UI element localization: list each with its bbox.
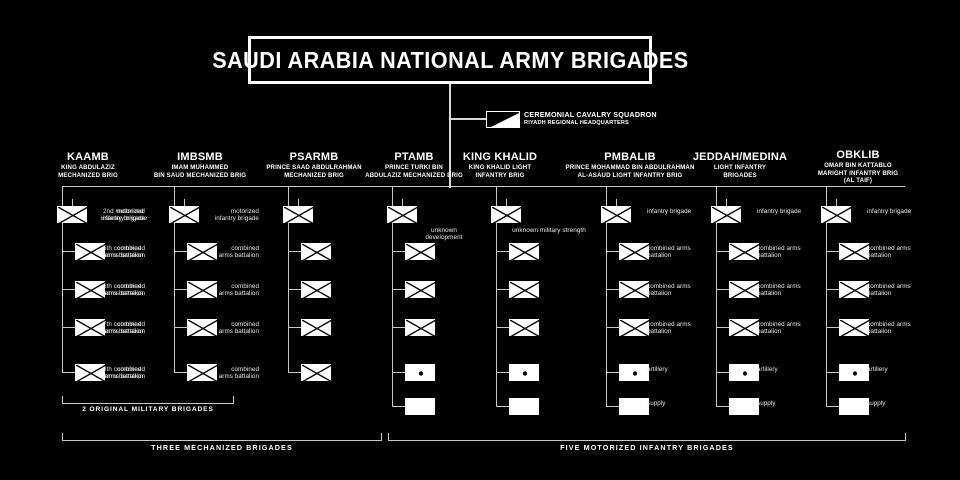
infantry-brigade-symbol[interactable] [387,206,417,223]
unit-connector-3-3 [288,289,301,290]
combined-arms-battalion-symbol[interactable] [405,243,435,260]
unit-label: artillery [867,366,929,373]
unit-connector-3-5 [288,372,301,373]
bracket-mech-top [62,440,382,441]
unit-label: motorized infantry brigade [189,208,259,223]
unit-connector-1-3 [62,289,75,290]
supply-symbol[interactable] [839,398,869,415]
unit-connector-8-2 [826,251,839,252]
bracket-label-mechanized: THREE MECHANIZED BRIGADES [62,443,382,452]
combined-arms-battalion-symbol[interactable] [619,281,649,298]
unit-connector-5-4 [496,327,509,328]
column-full-name: OMAR BIN KATTABLOMARIGHT INFANTRY BRIG(A… [778,162,938,185]
unit-connector-7-4 [716,327,729,328]
combined-arms-battalion-symbol[interactable] [729,243,759,260]
unit-label: supply [647,400,709,407]
cavalry-subtitle: RIYADH REGIONAL HEADQUARTERS [524,119,657,127]
supply-symbol[interactable] [405,398,435,415]
combined-arms-battalion-symbol[interactable] [839,281,869,298]
unit-label: infantry brigade [867,208,929,215]
unit-connector-4-2 [392,251,405,252]
unit-connector-6-2 [606,251,619,252]
unit-connector-2-5 [174,372,187,373]
cavalry-label: CEREMONIAL CAVALRY SQUADRON RIYADH REGIO… [524,110,657,127]
unit-label: combined arms battalion [75,321,145,336]
infantry-brigade-symbol[interactable] [821,206,851,223]
org-chart-canvas: SAUDI ARABIA NATIONAL ARMY BRIGADES CERE… [0,0,960,480]
unit-connector-2-3 [174,289,187,290]
infantry-brigade-symbol[interactable] [491,206,521,223]
combined-arms-battalion-symbol[interactable] [839,243,869,260]
artillery-symbol[interactable] [619,364,649,381]
unit-label: combined arms battalion [757,245,819,260]
unit-connector-4-5 [392,372,405,373]
unit-label: supply [757,400,819,407]
unit-label: combined arms battalion [75,366,145,381]
combined-arms-battalion-symbol[interactable] [729,281,759,298]
page-title: SAUDI ARABIA NATIONAL ARMY BRIGADES [212,47,688,74]
unit-label: combined arms battalion [647,283,709,298]
combined-arms-battalion-symbol[interactable] [301,364,331,381]
unit-connector-6-3 [606,289,619,290]
echelon-tick-5 [506,199,507,206]
combined-arms-battalion-symbol[interactable] [301,243,331,260]
column-note: unknown military strength [494,227,604,234]
bracket-mech-right [381,433,382,441]
unit-connector-5-5 [496,372,509,373]
supply-symbol[interactable] [509,398,539,415]
combined-arms-battalion-symbol[interactable] [405,319,435,336]
unit-label: combined arms battalion [867,245,929,260]
unit-label: supply [867,400,929,407]
unit-connector-7-6 [716,406,729,407]
bracket-motor-top [388,440,906,441]
combined-arms-battalion-symbol[interactable] [509,243,539,260]
unit-connector-4-6 [392,406,405,407]
unit-connector-3-2 [288,251,301,252]
column-spine-7 [716,215,717,407]
unit-connector-1-5 [62,372,75,373]
unit-label: combined arms battalion [867,283,929,298]
bracket-original-right [233,396,234,404]
bracket-label-motorized: FIVE MOTORIZED INFANTRY BRIGADES [388,443,906,452]
combined-arms-battalion-symbol[interactable] [619,243,649,260]
unit-connector-2-4 [174,327,187,328]
combined-arms-battalion-symbol[interactable] [301,281,331,298]
supply-symbol[interactable] [619,398,649,415]
unit-label: combined arms battalion [75,283,145,298]
echelon-tick-7 [726,199,727,206]
unit-label: combined arms battalion [189,321,259,336]
bracket-original-left [62,396,63,404]
combined-arms-battalion-symbol[interactable] [619,319,649,336]
column-note: unknown development [409,227,479,242]
unit-connector-6-4 [606,327,619,328]
unit-label: motorized infantry brigade [75,208,145,223]
header-bus-line [62,186,905,187]
column-spine-1 [62,215,63,373]
artillery-symbol[interactable] [729,364,759,381]
combined-arms-battalion-symbol[interactable] [301,319,331,336]
echelon-tick-2 [184,199,185,206]
combined-arms-battalion-symbol[interactable] [729,319,759,336]
unit-label: combined arms battalion [647,245,709,260]
bracket-motor-left [388,433,389,441]
unit-connector-7-2 [716,251,729,252]
unit-connector-6-5 [606,372,619,373]
unit-label: artillery [647,366,709,373]
artillery-symbol[interactable] [839,364,869,381]
unit-label: combined arms battalion [75,245,145,260]
unit-connector-3-4 [288,327,301,328]
unit-connector-8-6 [826,406,839,407]
artillery-symbol[interactable] [509,364,539,381]
bracket-label-original: 2 ORIGINAL MILITARY BRIGADES [62,406,234,413]
cavalry-branch-line [449,118,487,120]
supply-symbol[interactable] [729,398,759,415]
unit-connector-2-2 [174,251,187,252]
unit-connector-8-4 [826,327,839,328]
combined-arms-battalion-symbol[interactable] [509,281,539,298]
unit-connector-4-3 [392,289,405,290]
unit-connector-8-3 [826,289,839,290]
echelon-tick-1 [72,199,73,206]
unit-connector-5-6 [496,406,509,407]
unit-connector-5-2 [496,251,509,252]
column-spine-8 [826,215,827,407]
column-spine-4 [392,215,393,407]
unit-connector-1-4 [62,327,75,328]
cavalry-title: CEREMONIAL CAVALRY SQUADRON [524,110,657,119]
unit-label: infantry brigade [647,208,709,215]
combined-arms-battalion-symbol[interactable] [405,281,435,298]
unit-label: infantry brigade [757,208,819,215]
infantry-brigade-symbol[interactable] [601,206,631,223]
column-header-obklib[interactable]: OBKLIBOMAR BIN KATTABLOMARIGHT INFANTRY … [778,150,938,185]
combined-arms-battalion-symbol[interactable] [839,319,869,336]
combined-arms-battalion-symbol[interactable] [509,319,539,336]
infantry-brigade-symbol[interactable] [283,206,313,223]
column-abbr: OBKLIB [778,150,938,161]
unit-label: combined arms battalion [189,245,259,260]
column-spine-2 [174,215,175,373]
unit-connector-5-3 [496,289,509,290]
bracket-mech-left [62,433,63,441]
column-spine-5 [496,215,497,407]
unit-connector-8-5 [826,372,839,373]
artillery-symbol[interactable] [405,364,435,381]
unit-label: combined arms battalion [189,283,259,298]
unit-label: combined arms battalion [757,283,819,298]
echelon-tick-8 [836,199,837,206]
unit-connector-7-5 [716,372,729,373]
unit-label: combined arms battalion [867,321,929,336]
echelon-tick-3 [298,199,299,206]
chart-title-box: SAUDI ARABIA NATIONAL ARMY BRIGADES [248,36,652,84]
unit-label: combined arms battalion [189,366,259,381]
cavalry-symbol-icon [486,111,520,128]
column-spine-6 [606,215,607,407]
bracket-original-top [62,403,234,404]
column-spine-3 [288,215,289,373]
trunk-to-bus-line [449,182,451,188]
bracket-motor-right [905,433,906,441]
echelon-tick-6 [616,199,617,206]
unit-connector-4-4 [392,327,405,328]
unit-label: combined arms battalion [647,321,709,336]
echelon-tick-4 [402,199,403,206]
unit-connector-1-2 [62,251,75,252]
unit-label: artillery [757,366,819,373]
infantry-brigade-symbol[interactable] [711,206,741,223]
unit-label: combined arms battalion [757,321,819,336]
unit-connector-7-3 [716,289,729,290]
unit-connector-6-6 [606,406,619,407]
